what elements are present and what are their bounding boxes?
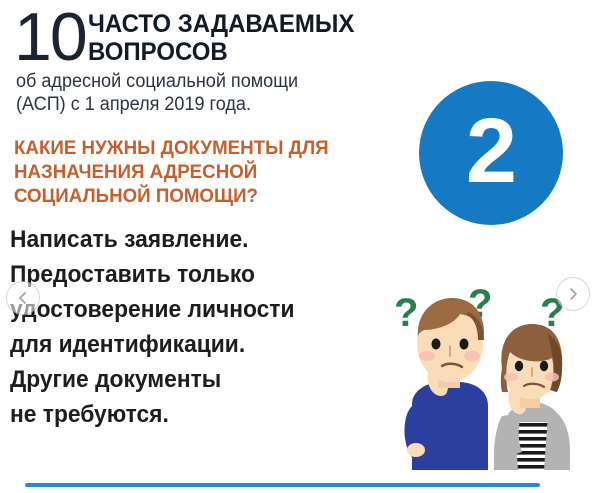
answer-line-3: удостоверение личности (10, 292, 371, 327)
header-title-line-1: ЧАСТО ЗАДАВАЕМЫХ (88, 10, 354, 38)
question-text: КАКИЕ НУЖНЫ ДОКУМЕНТЫ ДЛЯ НАЗНАЧЕНИЯ АДР… (14, 136, 384, 208)
header-subtitle-line-1: об адресной социальной помощи (16, 70, 358, 93)
answer-line-1: Написать заявление. (10, 222, 371, 257)
question-line-3: СОЦИАЛЬНОЙ ПОМОЩИ? (14, 184, 369, 208)
carousel-next-button[interactable] (556, 277, 590, 311)
header-title-line-2: ВОПРОСОВ (88, 38, 354, 66)
answer-line-5: Другие документы (10, 362, 371, 397)
woman-figure (494, 324, 570, 470)
answer-line-6: не требуются. (10, 397, 371, 432)
header-subtitle-line-2: (АСП) с 1 апреля 2019 года. (16, 93, 358, 116)
header: 10 ЧАСТО ЗАДАВАЕМЫХ ВОПРОСОВ (14, 4, 364, 68)
question-number-value: 2 (466, 105, 516, 197)
answer-line-4: для идентификации. (10, 327, 371, 362)
chevron-left-icon (16, 291, 30, 305)
slide-canvas: 10 ЧАСТО ЗАДАВАЕМЫХ ВОПРОСОВ об адресной… (0, 0, 600, 493)
bottom-divider (25, 483, 540, 487)
question-line-1: КАКИЕ НУЖНЫ ДОКУМЕНТЫ ДЛЯ (14, 136, 369, 160)
question-line-2: НАЗНАЧЕНИЯ АДРЕСНОЙ (14, 160, 369, 184)
carousel-prev-button[interactable] (6, 281, 40, 315)
faq-count-number: 10 (14, 6, 86, 68)
two-confused-people-illustration: ? ? ? (372, 282, 598, 482)
question-number-badge: 2 (419, 81, 563, 225)
header-subtitle: об адресной социальной помощи (АСП) с 1 … (16, 70, 358, 116)
answer-text: Написать заявление. Предоставить только … (10, 222, 390, 432)
answer-line-2: Предоставить только (10, 257, 371, 292)
chevron-right-icon (566, 287, 580, 301)
header-titles: ЧАСТО ЗАДАВАЕМЫХ ВОПРОСОВ (88, 10, 366, 66)
svg-text:?: ? (394, 291, 418, 335)
